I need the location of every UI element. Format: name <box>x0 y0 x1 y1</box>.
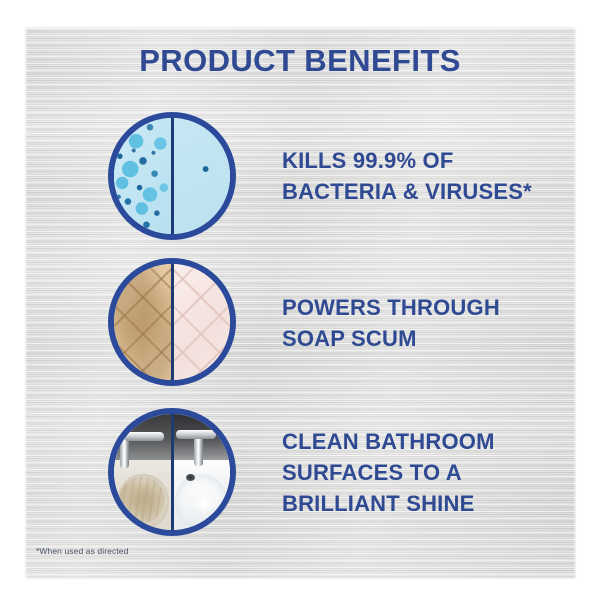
benefit-line-3: BRILLIANT SHINE <box>282 488 562 519</box>
sink-clean-half-image <box>172 414 230 530</box>
tile-dirty-half-image <box>114 264 172 380</box>
benefit-row-soap-scum: POWERS THROUGH SOAP SCUM <box>0 256 600 396</box>
benefit-line-2: BACTERIA & VIRUSES* <box>282 176 562 207</box>
benefit-line-1: CLEAN BATHROOM <box>282 426 562 457</box>
circle-split-divider <box>171 414 174 530</box>
footnote-disclaimer: *When used as directed <box>36 546 128 556</box>
benefit-row-kills-germs: KILLS 99.9% OF BACTERIA & VIRUSES* <box>0 110 600 250</box>
tile-before-after-circle <box>108 258 236 386</box>
germs-clean-half-image <box>172 118 230 234</box>
product-benefits-infographic: PRODUCT BENEFITS KILLS 99.9% OF BACTERIA… <box>0 0 600 600</box>
germs-before-after-circle <box>108 112 236 240</box>
page-title: PRODUCT BENEFITS <box>0 44 600 78</box>
faucet-clean-spout <box>176 430 216 439</box>
faucet-dirty-spout <box>124 432 164 441</box>
circle-split-divider <box>171 264 174 380</box>
benefit-text-brilliant-shine: CLEAN BATHROOM SURFACES TO A BRILLIANT S… <box>282 426 562 519</box>
benefit-line-1: POWERS THROUGH <box>282 292 562 323</box>
sink-dirty-half-image <box>114 414 172 530</box>
benefit-line-2: SURFACES TO A <box>282 457 562 488</box>
germs-dirty-half-image <box>114 118 172 234</box>
benefit-row-brilliant-shine: CLEAN BATHROOM SURFACES TO A BRILLIANT S… <box>0 406 600 546</box>
benefit-text-kills-germs: KILLS 99.9% OF BACTERIA & VIRUSES* <box>282 145 562 207</box>
tile-clean-half-image <box>172 264 230 380</box>
circle-split-divider <box>171 118 174 234</box>
shine-sparkle-icon <box>193 493 215 515</box>
benefit-text-soap-scum: POWERS THROUGH SOAP SCUM <box>282 292 562 354</box>
benefit-line-2: SOAP SCUM <box>282 323 562 354</box>
sink-before-after-circle <box>108 408 236 536</box>
soap-scum-residue <box>119 477 165 523</box>
benefit-line-1: KILLS 99.9% OF <box>282 145 562 176</box>
